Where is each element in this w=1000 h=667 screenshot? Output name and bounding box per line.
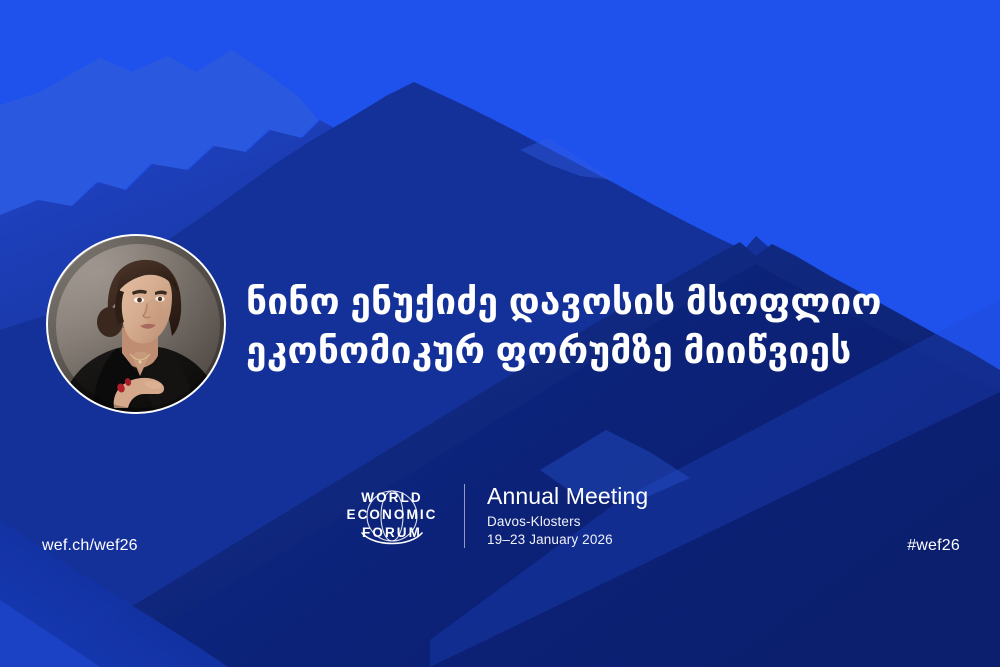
meeting-location: Davos-Klosters [487, 513, 648, 531]
site-url-text[interactable]: wef.ch/wef26 [42, 537, 138, 555]
wef-lockup: WORLD ECONOMIC FORUM Annual Meeting Davo… [338, 483, 648, 549]
wef-wordmark-line3: FORUM [338, 524, 446, 542]
wef-logo: WORLD ECONOMIC FORUM [338, 485, 446, 547]
portrait-photo [48, 236, 224, 412]
speaker-portrait [46, 234, 226, 414]
wef-announcement-banner: ნინო ენუქიძე დავოსის მსოფლიო ეკონომიკურ … [0, 0, 1000, 667]
wef-wordmark-line1: WORLD [338, 489, 446, 507]
wef-wordmark: WORLD ECONOMIC FORUM [338, 489, 446, 542]
portrait-figure [48, 236, 224, 412]
meeting-dates: 19–23 January 2026 [487, 531, 648, 549]
lockup-divider [464, 484, 465, 548]
page-title: ნინო ენუქიძე დავოსის მსოფლიო ეკონომიკურ … [246, 277, 966, 375]
wef-wordmark-line2: ECONOMIC [338, 506, 446, 524]
meeting-title: Annual Meeting [487, 483, 648, 509]
meeting-info: Annual Meeting Davos-Klosters 19–23 Janu… [487, 483, 648, 549]
hashtag-text[interactable]: #wef26 [907, 537, 960, 555]
